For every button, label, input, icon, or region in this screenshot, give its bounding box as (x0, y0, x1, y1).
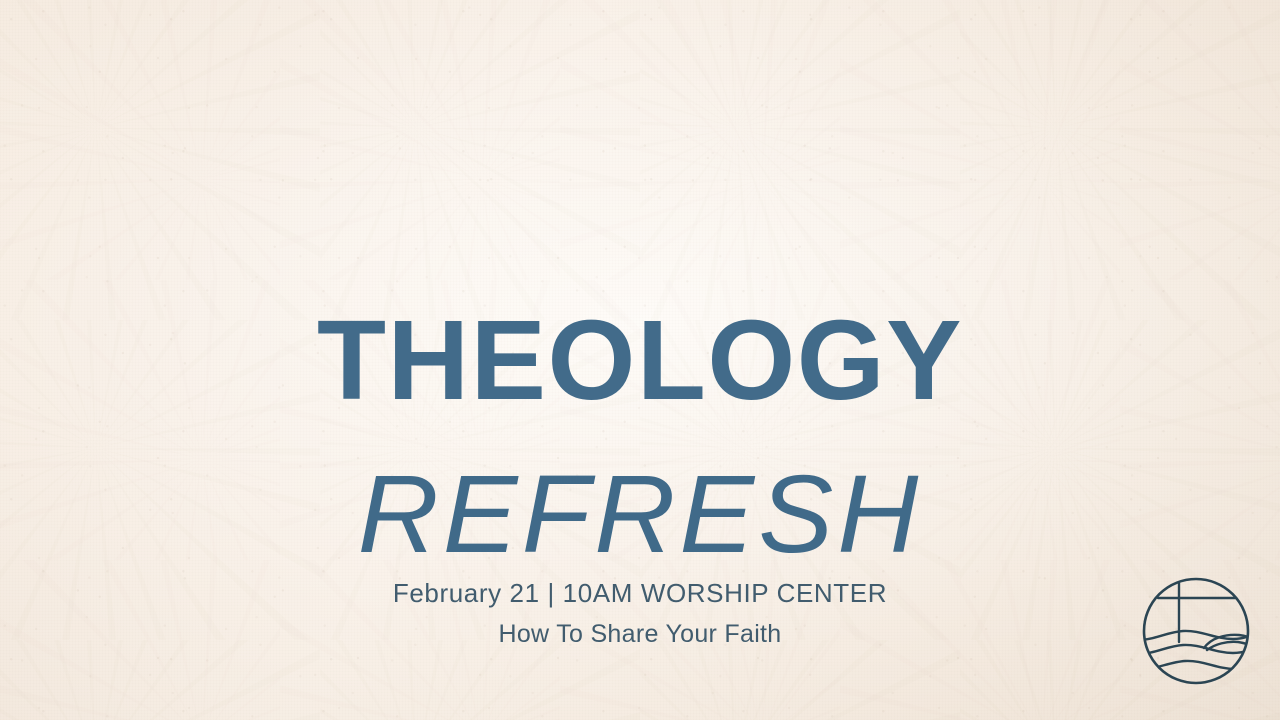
event-topic: How To Share Your Faith (0, 620, 1280, 649)
sermon-title-slide: THEOLOGY REFRESH February 21 | 10AM WORS… (0, 0, 1280, 720)
content-stack: THEOLOGY REFRESH February 21 | 10AM WORS… (0, 0, 1280, 720)
series-title-secondary: REFRESH (0, 460, 1280, 570)
event-details: February 21 | 10AM WORSHIP CENTER How To… (0, 578, 1280, 649)
logo-wave-2 (1141, 645, 1251, 654)
series-title-primary: THEOLOGY (0, 304, 1280, 417)
church-circle-cross-waves-icon (1141, 576, 1251, 686)
church-logo (1141, 576, 1251, 686)
event-date-time-location: February 21 | 10AM WORSHIP CENTER (0, 578, 1280, 609)
